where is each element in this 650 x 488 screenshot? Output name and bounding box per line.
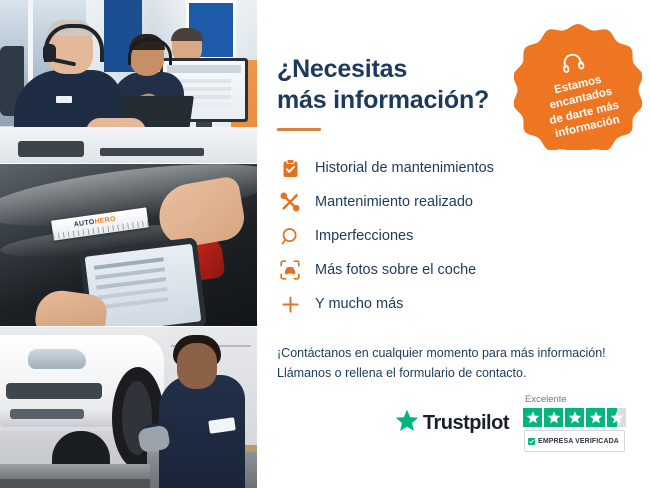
page-title-line-2: más información?: [277, 86, 489, 114]
plus-icon: [277, 295, 303, 314]
feature-item-maintenance-done: Mantenimiento realizado: [277, 185, 624, 219]
star-filled: [586, 408, 605, 427]
trustpilot-rating-label: Excelente: [525, 394, 567, 405]
technician-wheel-photo: [0, 327, 257, 488]
magnifier-icon: [277, 227, 303, 246]
clipboard-check-icon: [277, 159, 303, 178]
name-badge: [56, 96, 72, 103]
star-filled: [523, 408, 542, 427]
trustpilot-widget[interactable]: Trustpilot Excelente: [395, 394, 626, 452]
feature-item-imperfections: Imperfecciones: [277, 219, 624, 253]
car-lift-base: [0, 479, 150, 488]
feature-label: Imperfecciones: [315, 229, 413, 244]
bumper-vent: [10, 409, 84, 419]
agent-middle-headset-icon: [128, 38, 172, 65]
wrench-screwdriver-icon: [277, 192, 303, 212]
verified-company-badge: EMPRESA VERIFICADA: [524, 430, 625, 452]
trustpilot-rating: Excelente: [523, 394, 626, 452]
contact-text: ¡Contáctanos en cualquier momento para m…: [277, 343, 624, 383]
call-center-agents-photo: [0, 0, 257, 163]
star-half: [607, 408, 626, 427]
trustpilot-wordmark: Trustpilot: [423, 412, 509, 435]
feature-list: Historial de mantenimientos Mantenimient…: [277, 151, 624, 321]
highlight-badge: Estamos encantados de darte más informac…: [514, 22, 642, 150]
technician-head: [177, 343, 217, 389]
feature-label: Más fotos sobre el coche: [315, 263, 476, 278]
contact-text-line-2: Llámanos o rellena el formulario de cont…: [277, 366, 526, 380]
page-title-line-1: ¿Necesitas: [277, 55, 407, 83]
feature-item-more-photos: Más fotos sobre el coche: [277, 253, 624, 287]
trustpilot-star-icon: [395, 409, 419, 437]
trustpilot-logo[interactable]: Trustpilot: [395, 409, 509, 437]
car-inspection-ruler-photo: AUTOHERO: [0, 164, 257, 326]
headset-icon: [560, 52, 587, 79]
content-panel: ¿Necesitas más información? Historial de…: [257, 0, 650, 488]
verified-check-icon: [528, 432, 535, 450]
promo-banner: AUTOHERO: [0, 0, 650, 488]
page-title: ¿Necesitas más información?: [277, 54, 507, 115]
verified-company-label: EMPRESA VERIFICADA: [538, 438, 619, 445]
car-grille: [6, 383, 102, 399]
badge-text: Estamos encantados de darte más informac…: [526, 67, 640, 145]
feature-item-much-more: Y mucho más: [277, 287, 624, 321]
star-filled: [544, 408, 563, 427]
desk-tablet: [18, 141, 84, 157]
feature-label: Mantenimiento realizado: [315, 195, 473, 210]
feature-label: Y mucho más: [315, 297, 403, 312]
feature-label: Historial de mantenimientos: [315, 161, 494, 176]
trustpilot-stars: [523, 408, 626, 427]
agent-back-hair: [171, 28, 203, 41]
title-underline-rule: [277, 128, 321, 131]
contact-text-line-1: ¡Contáctanos en cualquier momento para m…: [277, 346, 606, 360]
laptop-base: [100, 148, 204, 156]
car-lift-ramp: [0, 464, 150, 480]
star-filled: [565, 408, 584, 427]
car-scan-icon: [277, 260, 303, 280]
photo-strip: AUTOHERO: [0, 0, 257, 488]
car-headlight: [28, 349, 86, 369]
feature-item-maintenance-history: Historial de mantenimientos: [277, 151, 624, 185]
